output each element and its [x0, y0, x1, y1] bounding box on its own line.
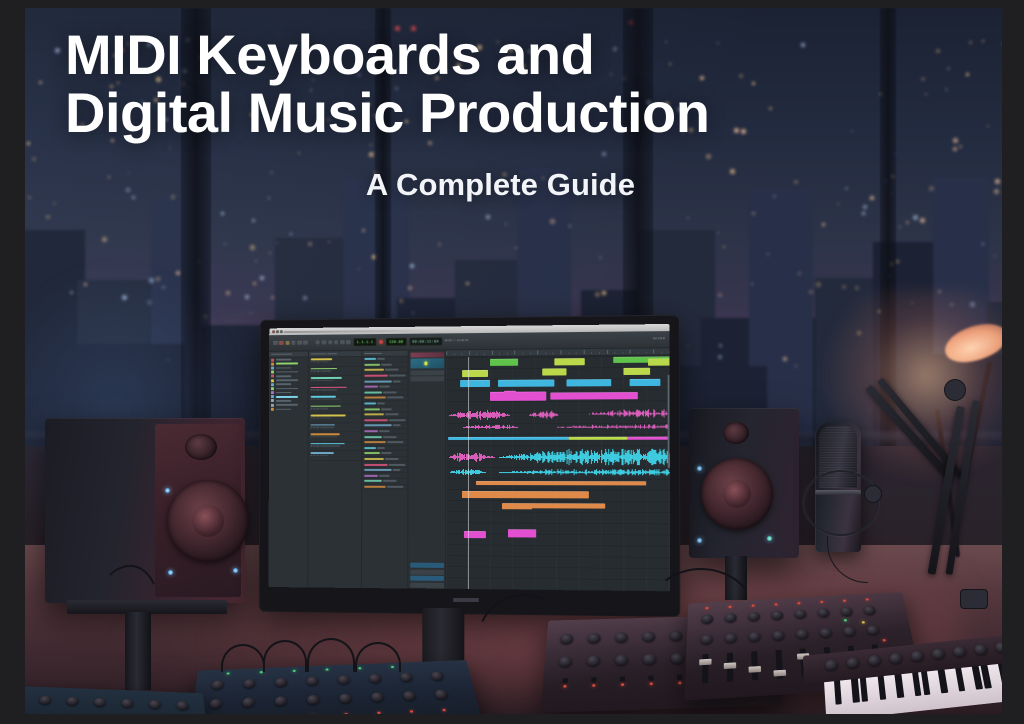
window-light	[358, 268, 360, 270]
track-record-button[interactable]	[317, 408, 319, 410]
black-key[interactable]	[851, 679, 859, 703]
control-knob[interactable]	[149, 700, 161, 709]
black-key[interactable]	[912, 672, 922, 696]
track-row[interactable]	[309, 385, 362, 395]
track-record-button[interactable]	[317, 370, 319, 372]
inspector-row-label	[364, 436, 382, 438]
plugin-slot-compressor[interactable]	[410, 370, 444, 375]
track-mute-button[interactable]	[310, 408, 312, 410]
power-led	[767, 536, 772, 541]
track-header-label	[327, 353, 337, 355]
control-knob[interactable]	[400, 672, 413, 681]
inspector-row-label	[364, 452, 380, 454]
control-knob[interactable]	[209, 699, 222, 709]
inspector-row-value	[386, 441, 403, 443]
record-arm-icon[interactable]	[279, 341, 283, 345]
track-solo-button[interactable]	[313, 445, 315, 447]
inspector-row-value	[392, 380, 400, 382]
fader-slot[interactable]	[620, 676, 625, 681]
inspector-row-value	[383, 391, 397, 393]
inspector-row-label	[364, 369, 384, 371]
daw-browser-panel	[269, 352, 309, 588]
browser-item-icon	[271, 358, 274, 361]
daw-channel-strip	[408, 350, 446, 589]
ruler-tick	[584, 350, 585, 354]
control-knob[interactable]	[369, 674, 382, 684]
step-led	[442, 709, 446, 712]
browser-item-icon	[271, 375, 274, 378]
track-solo-button[interactable]	[313, 417, 315, 419]
browser-item-icon	[271, 371, 274, 374]
track-mute-button[interactable]	[310, 417, 312, 419]
woofer	[701, 458, 773, 530]
inspector-row-label	[364, 475, 378, 477]
track-monitor-button[interactable]	[320, 417, 331, 419]
browser-item-label	[275, 404, 297, 406]
ruler-tick	[446, 351, 447, 355]
track-name-label	[310, 424, 334, 426]
step-led	[344, 713, 347, 714]
step-led	[377, 712, 380, 714]
ruler-tick	[545, 352, 546, 354]
timeline-clip[interactable]	[508, 529, 536, 537]
track-name-label	[310, 433, 339, 435]
control-knob[interactable]	[121, 699, 133, 708]
ruler-tick	[638, 352, 639, 354]
timeline-clip[interactable]	[448, 437, 568, 440]
timeline-clip[interactable]	[462, 370, 488, 377]
waveform-peak	[509, 415, 510, 416]
control-knob[interactable]	[275, 677, 287, 687]
track-record-button[interactable]	[317, 380, 319, 382]
browser-item-icon	[271, 367, 274, 370]
inspector-row-value	[377, 402, 385, 404]
ruler-tick	[622, 352, 623, 354]
window-light	[602, 291, 606, 295]
window-light	[717, 232, 719, 234]
track-record-button[interactable]	[317, 445, 319, 447]
track-mute-button[interactable]	[310, 436, 312, 438]
waveform-peak	[557, 414, 558, 415]
menu-icon[interactable]	[273, 341, 277, 345]
inspector-header-label	[364, 353, 382, 355]
timeline-clip[interactable]	[504, 391, 516, 400]
browser-item-icon	[271, 404, 274, 407]
track-mute-button[interactable]	[310, 445, 312, 447]
plugin-slot-delay[interactable]	[410, 563, 444, 568]
window-light	[466, 282, 469, 285]
daw-inspector-panel	[362, 351, 409, 589]
studio-monitor-right	[689, 408, 799, 558]
window-minimize-icon[interactable]	[276, 330, 279, 333]
title-block: MIDI Keyboards and Digital Music Product…	[25, 26, 1002, 203]
browser-item-label	[275, 384, 290, 386]
inspector-row-value	[385, 414, 399, 416]
control-knob[interactable]	[39, 696, 52, 705]
timeline-clip[interactable]	[542, 368, 566, 375]
page-title-line1: MIDI Keyboards and	[25, 26, 1002, 84]
browser-item-label	[275, 388, 297, 390]
inspector-rows[interactable]	[362, 357, 407, 490]
ruler-tick	[669, 351, 670, 353]
window-maximize-icon[interactable]	[280, 330, 283, 333]
browser-item-label	[275, 408, 290, 410]
track-mute-button[interactable]	[310, 380, 312, 382]
forward-icon[interactable]	[322, 340, 326, 344]
control-knob[interactable]	[211, 680, 224, 690]
control-knob[interactable]	[94, 698, 106, 707]
track-record-button[interactable]	[317, 361, 319, 363]
track-mute-button[interactable]	[310, 455, 312, 457]
plugin-slot-limiter[interactable]	[410, 569, 444, 574]
timeline-clip[interactable]	[569, 437, 628, 440]
timeline-clip[interactable]	[566, 379, 611, 386]
track-controls[interactable]	[310, 370, 360, 372]
ruler-tick	[607, 350, 608, 354]
window-light	[260, 276, 264, 280]
track-row[interactable]	[309, 413, 362, 423]
control-knob[interactable]	[275, 696, 287, 706]
track-monitor-button[interactable]	[320, 380, 334, 382]
record-indicator	[379, 340, 383, 344]
control-knob[interactable]	[371, 692, 384, 702]
peak-led	[883, 639, 886, 642]
control-knob[interactable]	[66, 697, 79, 706]
track-controls[interactable]	[310, 408, 360, 410]
page-title-line2: Digital Music Production	[25, 84, 1002, 142]
track-monitor-button[interactable]	[320, 389, 337, 391]
inspector-row-label	[364, 380, 391, 382]
ruler-tick	[507, 353, 508, 355]
metronome-icon[interactable]	[285, 341, 289, 345]
track-monitor-button[interactable]	[320, 436, 337, 438]
track-record-button[interactable]	[317, 455, 319, 457]
track-row[interactable]	[309, 451, 362, 460]
timeline-clip[interactable]	[630, 379, 661, 386]
loop-icon[interactable]	[340, 340, 344, 344]
track-controls[interactable]	[310, 417, 360, 419]
track-solo-button[interactable]	[314, 370, 316, 372]
channel-fader[interactable]	[749, 666, 762, 673]
timeline-clip[interactable]	[476, 481, 646, 485]
control-knob[interactable]	[307, 695, 319, 705]
black-key[interactable]	[998, 663, 1002, 686]
track-controls[interactable]	[310, 379, 360, 381]
track-mute-button[interactable]	[310, 398, 312, 400]
daw-arrangement-view[interactable]	[446, 348, 670, 591]
browser-item-label	[275, 359, 290, 361]
ruler-tick	[492, 351, 493, 355]
plugin-slot-reverb[interactable]	[410, 376, 444, 381]
track-row[interactable]	[309, 357, 362, 367]
track-monitor-button[interactable]	[320, 361, 328, 363]
inspector-row-value	[385, 369, 399, 371]
track-row[interactable]	[309, 432, 362, 441]
ruler-tick	[530, 353, 531, 355]
channel-led	[820, 601, 823, 603]
stop-icon[interactable]	[328, 340, 332, 344]
timeline-clip[interactable]	[508, 503, 605, 508]
timeline-clip[interactable]	[490, 359, 518, 366]
black-key[interactable]	[877, 676, 886, 700]
ruler-tick	[499, 353, 500, 355]
track-monitor-button[interactable]	[320, 426, 334, 428]
track-record-button[interactable]	[317, 417, 319, 419]
inspector-row-value	[382, 480, 396, 482]
boom-base-clamp	[961, 590, 987, 608]
black-key[interactable]	[921, 671, 931, 695]
track-row[interactable]	[309, 366, 362, 376]
track-controls[interactable]	[310, 426, 360, 428]
daw-application: 1.1.1.1 120.00 00:00:12:04 MIDI / AUDIO …	[269, 324, 670, 591]
channel-fader[interactable]	[773, 670, 786, 677]
rewind-icon[interactable]	[316, 340, 320, 344]
window-light	[505, 223, 507, 225]
timeline-clip[interactable]	[550, 392, 638, 400]
track-solo-button[interactable]	[314, 380, 316, 382]
ruler-tick	[514, 351, 515, 355]
black-key[interactable]	[981, 665, 992, 689]
control-knob[interactable]	[434, 689, 448, 699]
window-light	[271, 296, 274, 299]
inspector-row-label	[364, 402, 376, 404]
browser-item[interactable]	[269, 407, 308, 411]
daw-track-list	[308, 351, 362, 588]
inspector-row-value	[389, 375, 406, 377]
black-key[interactable]	[834, 681, 842, 705]
black-key[interactable]	[955, 668, 965, 692]
track-mute-button[interactable]	[310, 361, 312, 363]
inspector-row-value	[392, 469, 400, 471]
browser-item-label	[275, 379, 297, 381]
fader-slot[interactable]	[677, 675, 682, 680]
transport-controls	[316, 340, 351, 345]
signal-led	[862, 621, 865, 623]
track-row[interactable]	[309, 395, 362, 405]
inspector-row-value	[379, 430, 390, 432]
ruler-tick	[599, 352, 600, 354]
track-monitor-button[interactable]	[320, 398, 339, 400]
inspector-row-value	[386, 486, 403, 488]
timeline-clip[interactable]	[554, 358, 584, 365]
track-controls[interactable]	[310, 361, 360, 363]
ruler-tick	[653, 349, 654, 353]
ruler-tick	[553, 352, 554, 354]
track-solo-button[interactable]	[313, 426, 315, 428]
computer-monitor: 1.1.1.1 120.00 00:00:12:04 MIDI / AUDIO …	[256, 318, 676, 613]
inspector-row-label	[364, 469, 392, 471]
undo-icon[interactable]	[297, 341, 301, 345]
power-led	[697, 538, 702, 543]
inspector-row-label	[364, 430, 378, 432]
window-light	[400, 300, 403, 303]
black-key[interactable]	[860, 678, 869, 702]
inspector-row-value	[384, 458, 398, 460]
track-monitor-button[interactable]	[320, 455, 328, 457]
track-rows[interactable]	[309, 357, 362, 460]
control-knob[interactable]	[431, 671, 445, 680]
power-led	[697, 466, 702, 471]
track-name-label	[310, 452, 333, 454]
channel-led	[843, 600, 846, 602]
black-key[interactable]	[895, 674, 904, 698]
toolbar-left-buttons	[273, 340, 308, 345]
browser-item-label	[275, 363, 297, 365]
save-icon[interactable]	[291, 341, 295, 345]
track-mute-button[interactable]	[310, 427, 312, 429]
control-knob[interactable]	[242, 697, 255, 707]
daw-workspace	[269, 348, 670, 591]
position-display[interactable]: 1.1.1.1	[354, 338, 377, 345]
browser-item-label	[275, 371, 297, 373]
timecode-display[interactable]: 00:00:12:04	[409, 338, 442, 346]
inspector-row-label	[364, 458, 384, 460]
page-subtitle: A Complete Guide	[25, 167, 1002, 203]
ruler-tick	[646, 352, 647, 354]
track-solo-button[interactable]	[313, 389, 315, 391]
track-record-button[interactable]	[317, 389, 319, 391]
inspector-row-value	[379, 475, 390, 477]
control-knob[interactable]	[403, 691, 417, 701]
track-controls[interactable]	[310, 398, 360, 400]
window-light	[718, 355, 722, 359]
inspector-row-label	[364, 486, 386, 488]
ruler-tick	[614, 352, 615, 354]
inspector-row-label	[364, 447, 376, 449]
status-led	[227, 672, 230, 674]
ruler-tick	[484, 353, 485, 355]
plugin-slot-eq[interactable]	[410, 352, 444, 357]
control-knob[interactable]	[176, 701, 188, 710]
track-solo-button[interactable]	[313, 436, 315, 438]
timeline-clip[interactable]	[628, 437, 670, 440]
ruler-tick	[568, 352, 569, 354]
fader-slot[interactable]	[410, 582, 444, 587]
control-knob[interactable]	[338, 675, 350, 685]
inspector-row-label	[364, 386, 378, 388]
fader-slot[interactable]	[591, 677, 596, 682]
browser-item-list[interactable]	[269, 357, 308, 411]
window-light	[362, 229, 365, 232]
track-header-label	[310, 353, 326, 355]
track-solo-button[interactable]	[313, 398, 315, 400]
control-knob[interactable]	[339, 693, 352, 703]
black-key[interactable]	[938, 670, 948, 694]
inspector-row[interactable]	[362, 484, 407, 490]
monitor-screen: 1.1.1.1 120.00 00:00:12:04 MIDI / AUDIO …	[269, 324, 670, 591]
window-light	[486, 215, 490, 219]
timeline-clip[interactable]	[648, 358, 670, 365]
woofer	[167, 480, 249, 562]
control-knob[interactable]	[243, 679, 255, 689]
track-solo-button[interactable]	[314, 361, 316, 363]
inspector-row-label	[364, 464, 388, 466]
tempo-display[interactable]: 120.00	[386, 338, 406, 345]
window-light	[252, 219, 255, 222]
inspector-row-label	[364, 391, 382, 393]
browser-item-icon	[271, 395, 274, 398]
track-record-button[interactable]	[317, 436, 319, 438]
inspector-row-label	[364, 414, 384, 416]
window-light	[913, 215, 918, 220]
track-row[interactable]	[309, 442, 362, 451]
ruler-tick	[560, 350, 561, 354]
timeline-clip[interactable]	[498, 380, 554, 387]
photo-canvas: 1.1.1.1 120.00 00:00:12:04 MIDI / AUDIO …	[25, 8, 1002, 714]
track-monitor-button[interactable]	[320, 408, 328, 410]
browser-item-icon	[271, 399, 274, 402]
grid-icon[interactable]	[304, 340, 308, 344]
inspector-row-label	[364, 358, 376, 360]
vertical-scrollbar[interactable]	[668, 374, 670, 468]
track-controls[interactable]	[310, 455, 360, 457]
track-mute-button[interactable]	[310, 370, 312, 372]
track-monitor-button[interactable]	[320, 370, 331, 372]
track-controls[interactable]	[310, 445, 360, 447]
track-record-button[interactable]	[317, 398, 319, 400]
track-record-button[interactable]	[317, 426, 319, 428]
inspector-row-label	[364, 425, 391, 427]
fader-slot[interactable]	[563, 678, 568, 683]
window-light	[303, 296, 307, 300]
window-light	[842, 285, 846, 289]
inspector-row-value	[377, 358, 385, 360]
track-name-label	[310, 443, 344, 445]
ruler-tick	[476, 353, 477, 355]
playhead[interactable]	[468, 357, 469, 589]
track-controls[interactable]	[310, 389, 360, 391]
timeline-lanes[interactable]	[446, 355, 670, 591]
ruler-tick	[576, 352, 577, 354]
shock-mount	[803, 470, 879, 536]
browser-item-icon	[271, 391, 274, 394]
window-light	[899, 226, 901, 228]
browser-item-icon	[271, 408, 274, 411]
track-row[interactable]	[309, 376, 362, 386]
timeline-clip[interactable]	[490, 392, 546, 401]
control-knob[interactable]	[306, 676, 318, 686]
boom-joint	[865, 486, 881, 502]
timeline-clip[interactable]	[623, 368, 650, 375]
timeline-clip[interactable]	[460, 380, 490, 387]
mixer-label: MIXER	[653, 337, 665, 341]
inspector-row-value	[383, 436, 397, 438]
play-icon[interactable]	[334, 340, 338, 344]
monitor-chin	[260, 589, 679, 611]
timeline-clip[interactable]	[462, 491, 589, 498]
track-row[interactable]	[309, 404, 362, 414]
control-knob[interactable]	[36, 713, 49, 714]
fader-slot[interactable]	[648, 676, 653, 681]
inspector-row-value	[381, 364, 392, 366]
window-light	[798, 272, 801, 275]
track-solo-button[interactable]	[313, 408, 315, 410]
window-light	[855, 286, 859, 290]
browser-item-label	[275, 367, 290, 369]
track-controls[interactable]	[310, 436, 360, 438]
plugin-slot-synth[interactable]	[410, 358, 444, 368]
track-row[interactable]	[309, 423, 362, 433]
track-monitor-button[interactable]	[320, 445, 339, 447]
track-solo-button[interactable]	[313, 455, 315, 457]
track-mute-button[interactable]	[310, 389, 312, 391]
inspector-row-label	[364, 419, 388, 421]
toolbar-spacer	[472, 339, 650, 341]
record-icon[interactable]	[346, 340, 350, 344]
window-close-icon[interactable]	[272, 330, 275, 333]
window-light	[245, 295, 249, 299]
inspector-row-label	[364, 397, 386, 399]
